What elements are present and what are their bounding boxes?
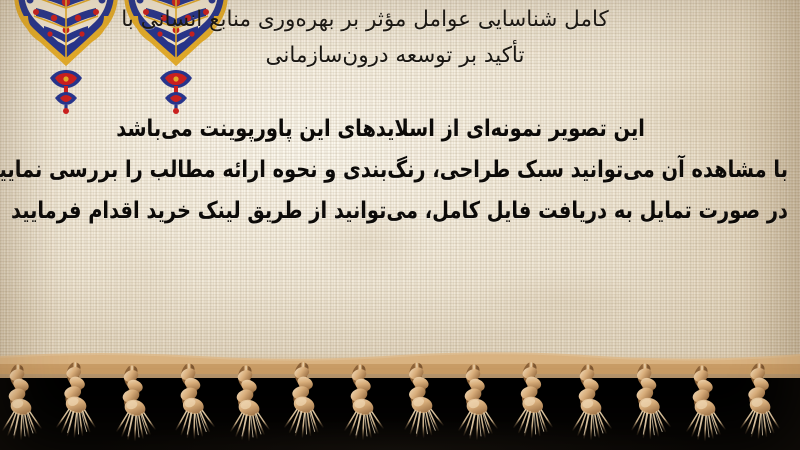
carpet-fringe-band [0,368,800,450]
title-line-2: تأکید بر توسعه درون‌سازمانی [0,38,790,74]
slide-body: این تصویر نمونه‌ای از اسلایدهای این پاور… [0,108,800,231]
slide-title: کامل شناسایی عوامل مؤثر بر بهره‌وری مناب… [0,2,790,74]
body-line-3: در صورت تمایل به دریافت فایل کامل، می‌تو… [12,187,788,235]
slide-canvas: کامل شناسایی عوامل مؤثر بر بهره‌وری مناب… [0,0,800,450]
title-line-1: کامل شناسایی عوامل مؤثر بر بهره‌وری مناب… [0,2,790,38]
